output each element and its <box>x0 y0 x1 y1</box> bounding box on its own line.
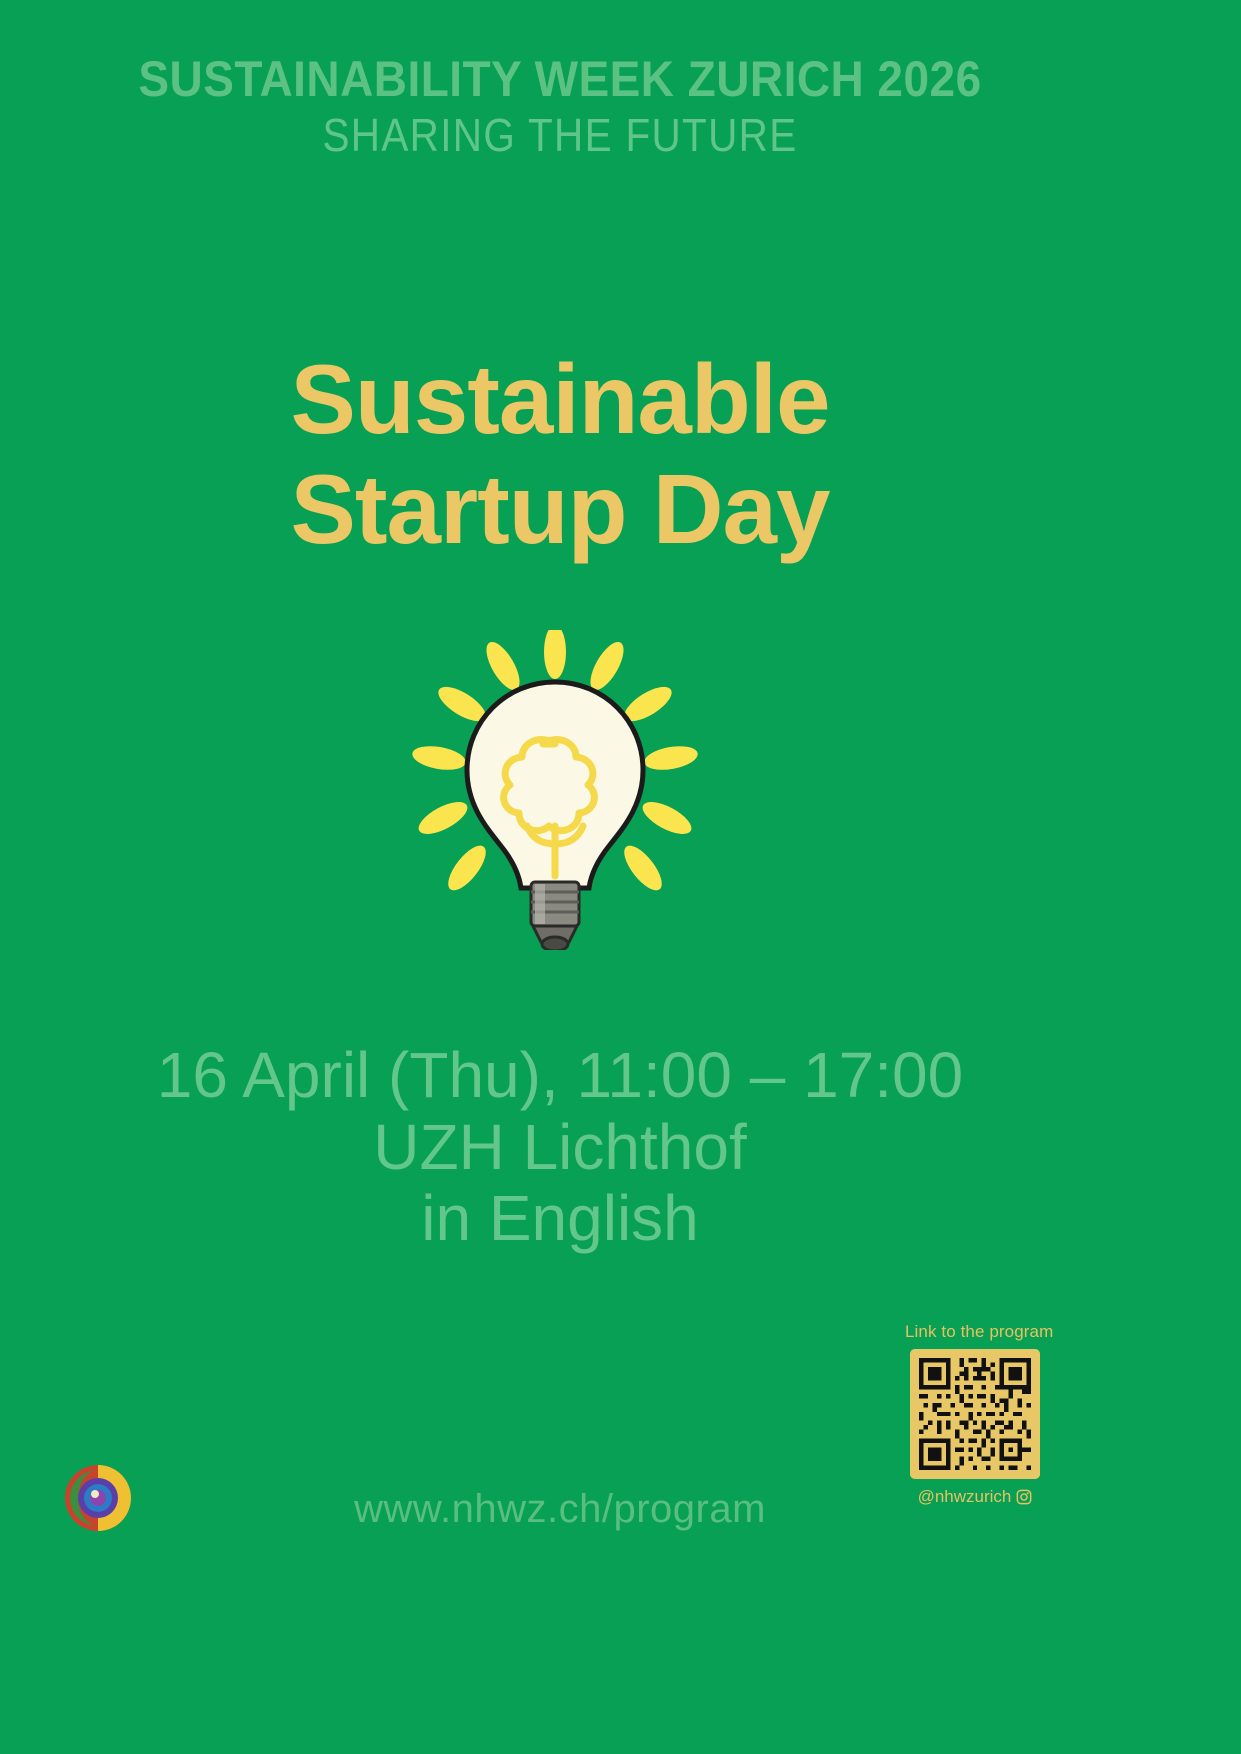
event-location: UZH Lichthof <box>0 1112 1120 1184</box>
qr-block: Link to the program <box>905 1322 1045 1507</box>
event-datetime: 16 April (Thu), 11:00 – 17:00 <box>0 1040 1120 1112</box>
event-details: 16 April (Thu), 11:00 – 17:00 UZH Lichth… <box>0 1040 1120 1255</box>
poster-header: SUSTAINABILITY WEEK ZURICH 2026 SHARING … <box>0 52 1120 161</box>
event-language: in English <box>0 1183 1120 1255</box>
instagram-handle: @nhwzurich <box>918 1487 1012 1507</box>
page-title-line-1: Sustainable <box>0 345 1120 455</box>
qr-code[interactable] <box>910 1349 1040 1479</box>
event-series-tagline: SHARING THE FUTURE <box>67 110 1053 161</box>
qr-caption: Link to the program <box>905 1322 1045 1342</box>
page-title: Sustainable Startup Day <box>0 345 1120 565</box>
page-title-line-2: Startup Day <box>0 455 1120 565</box>
instagram-handle-row[interactable]: @nhwzurich <box>905 1487 1045 1507</box>
lightbulb-with-tree-filament-icon <box>405 630 705 950</box>
poster-canvas: SUSTAINABILITY WEEK ZURICH 2026 SHARING … <box>0 0 1241 1754</box>
event-series-title: SUSTAINABILITY WEEK ZURICH 2026 <box>45 52 1075 106</box>
instagram-icon <box>1016 1489 1032 1505</box>
